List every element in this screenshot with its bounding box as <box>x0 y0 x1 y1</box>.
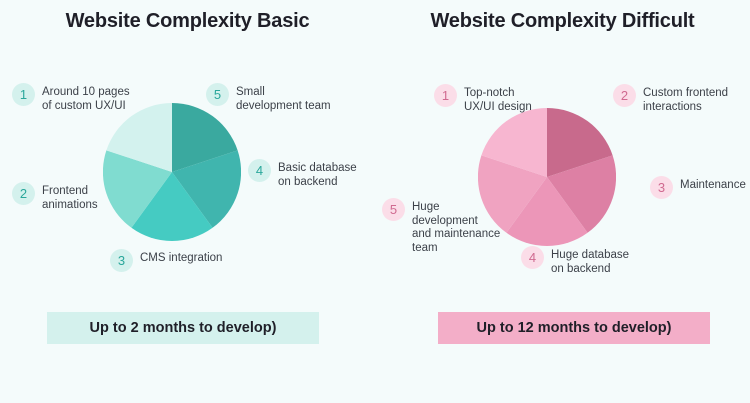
callout-basic-2: 2 Frontend animations <box>12 182 132 212</box>
pie-svg-basic <box>103 103 241 241</box>
callout-basic-4: 4 Basic database on backend <box>248 159 363 189</box>
callout-label-5: Small development team <box>236 83 331 113</box>
callout-badge-1: 1 <box>434 84 457 107</box>
page-title-difficult: Website Complexity Difficult <box>375 10 750 33</box>
callout-badge-3: 3 <box>650 176 673 199</box>
pie-chart-basic <box>103 103 241 241</box>
callout-label-2: Custom frontend interactions <box>643 84 728 114</box>
callout-badge-3: 3 <box>110 249 133 272</box>
callout-basic-3: 3 CMS integration <box>110 249 255 272</box>
callout-badge-1: 1 <box>12 83 35 106</box>
callout-label-4: Huge database on backend <box>551 246 629 276</box>
callout-difficult-2: 2 Custom frontend interactions <box>613 84 738 114</box>
callout-basic-1: 1 Around 10 pages of custom UX/UI <box>12 83 140 113</box>
callout-badge-2: 2 <box>613 84 636 107</box>
footer-bar-basic: Up to 2 months to develop) <box>47 312 319 344</box>
callout-label-1: Top-notch UX/UI design <box>464 84 532 114</box>
callout-label-3: Maintenance <box>680 176 746 193</box>
callout-basic-5: 5 Small development team <box>206 83 336 113</box>
callout-badge-5: 5 <box>382 198 405 221</box>
callout-label-4: Basic database on backend <box>278 159 357 189</box>
callout-difficult-3: 3 Maintenance <box>650 176 750 199</box>
callout-difficult-1: 1 Top-notch UX/UI design <box>434 84 544 114</box>
page-title-basic: Website Complexity Basic <box>0 10 375 33</box>
panel-basic: Website Complexity Basic 1 Around 10 pag… <box>0 0 375 403</box>
callout-badge-2: 2 <box>12 182 35 205</box>
callout-badge-5: 5 <box>206 83 229 106</box>
callout-badge-4: 4 <box>248 159 271 182</box>
callout-label-1: Around 10 pages of custom UX/UI <box>42 83 130 113</box>
callout-badge-4: 4 <box>521 246 544 269</box>
callout-label-3: CMS integration <box>140 249 222 266</box>
callout-difficult-4: 4 Huge database on backend <box>521 246 646 276</box>
callout-difficult-5: 5 Huge development and maintenance team <box>382 198 507 255</box>
callout-label-5: Huge development and maintenance team <box>412 198 507 255</box>
footer-bar-difficult: Up to 12 months to develop) <box>438 312 710 344</box>
callout-label-2: Frontend animations <box>42 182 98 212</box>
